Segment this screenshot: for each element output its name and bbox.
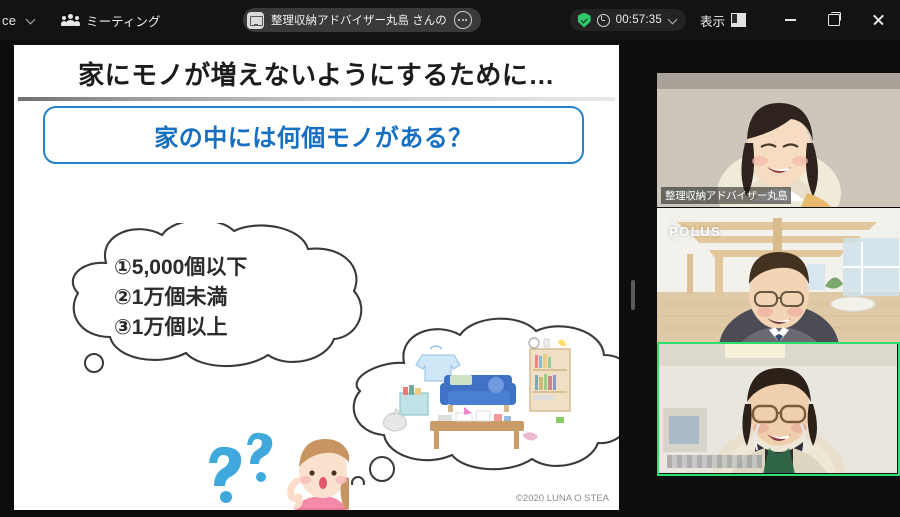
screen-share-label: 整理収納アドバイザー丸島 さんの xyxy=(271,12,447,28)
copyright-text: ©2020 LUNA O STEA xyxy=(516,493,609,504)
answers-list: ①5,000個以下 ②1万個未満 ③1万個以上 xyxy=(114,253,247,342)
question-text: 家の中には何個モノがある？ xyxy=(154,118,473,153)
blurred-name-overlay xyxy=(667,455,762,468)
question-box: 家の中には何個モノがある？ xyxy=(43,106,584,164)
chevron-down-icon[interactable] xyxy=(26,15,36,25)
restore-icon xyxy=(828,14,840,26)
close-button[interactable] xyxy=(856,0,900,40)
answer-option-3: ③1万個以上 xyxy=(114,313,247,343)
encryption-timer-group[interactable]: 00:57:35 xyxy=(570,9,686,31)
close-icon xyxy=(872,14,884,26)
titlebar-right-group: 00:57:35 表示 xyxy=(570,0,900,40)
maximize-button[interactable] xyxy=(812,0,856,40)
panel-divider[interactable] xyxy=(628,40,638,517)
answer-option-1: ①5,000個以下 xyxy=(114,253,247,283)
shield-encrypted-icon xyxy=(578,13,591,28)
participant-tile-3[interactable] xyxy=(657,342,900,476)
more-options-icon[interactable] xyxy=(454,11,472,29)
participant-video-3 xyxy=(659,344,897,473)
room-thought-cloud xyxy=(344,317,619,485)
bookshelf-illustration xyxy=(529,338,570,411)
window-controls xyxy=(768,0,900,40)
screen-share-chip[interactable]: 整理収納アドバイザー丸島 さんの xyxy=(243,8,481,32)
meeting-label: ミーティング xyxy=(86,11,160,30)
chevron-down-icon[interactable] xyxy=(668,15,678,25)
toy-block xyxy=(556,417,564,423)
layout-icon xyxy=(731,13,746,27)
titlebar-left-group: ce ミーティング xyxy=(0,11,160,30)
answer-option-2: ②1万個未満 xyxy=(114,283,247,313)
workspace-name[interactable]: ce xyxy=(2,13,16,28)
polus-watermark: ポラスグループPOLUSポラス xyxy=(669,218,721,244)
window-titlebar: ce ミーティング 整理収納アドバイザー丸島 さんの 00:57:35 xyxy=(0,0,900,40)
presentation-slide: 家にモノが増えないようにするために… 家の中には何個モノがある？ ①5,000個… xyxy=(14,45,619,510)
participant-tile-2[interactable]: ポラスグループPOLUSポラス xyxy=(657,208,900,342)
answers-thought-cloud: ①5,000個以下 ②1万個未満 ③1万個以上 xyxy=(58,223,378,375)
minimize-button[interactable] xyxy=(768,0,812,40)
people-icon xyxy=(62,14,79,27)
title-divider xyxy=(18,97,615,101)
meeting-tab[interactable]: ミーティング xyxy=(62,11,160,30)
screen-share-icon xyxy=(247,12,264,29)
view-button[interactable]: 表示 xyxy=(700,11,746,30)
participant-name-1: 整理収納アドバイザー丸島 xyxy=(661,187,791,204)
participant-video-rail: 整理収納アドバイザー丸島 xyxy=(640,40,900,517)
meeting-window: ce ミーティング 整理収納アドバイザー丸島 さんの 00:57:35 xyxy=(0,0,900,517)
shared-screen-stage[interactable]: 家にモノが増えないようにするために… 家の中には何個モノがある？ ①5,000個… xyxy=(0,40,628,517)
girl-illustration xyxy=(199,423,349,510)
clock-icon xyxy=(597,14,610,27)
slide-title: 家にモノが増えないようにするために… xyxy=(14,55,619,92)
minimize-icon xyxy=(785,19,796,21)
meeting-timer: 00:57:35 xyxy=(616,14,662,26)
participant-tile-1[interactable]: 整理収納アドバイザー丸島 xyxy=(657,73,900,207)
view-label: 表示 xyxy=(700,11,725,30)
girl-character xyxy=(291,439,349,510)
resize-handle[interactable] xyxy=(631,280,635,310)
cloud-shape-right xyxy=(344,317,619,485)
question-mark-icons xyxy=(209,433,272,503)
